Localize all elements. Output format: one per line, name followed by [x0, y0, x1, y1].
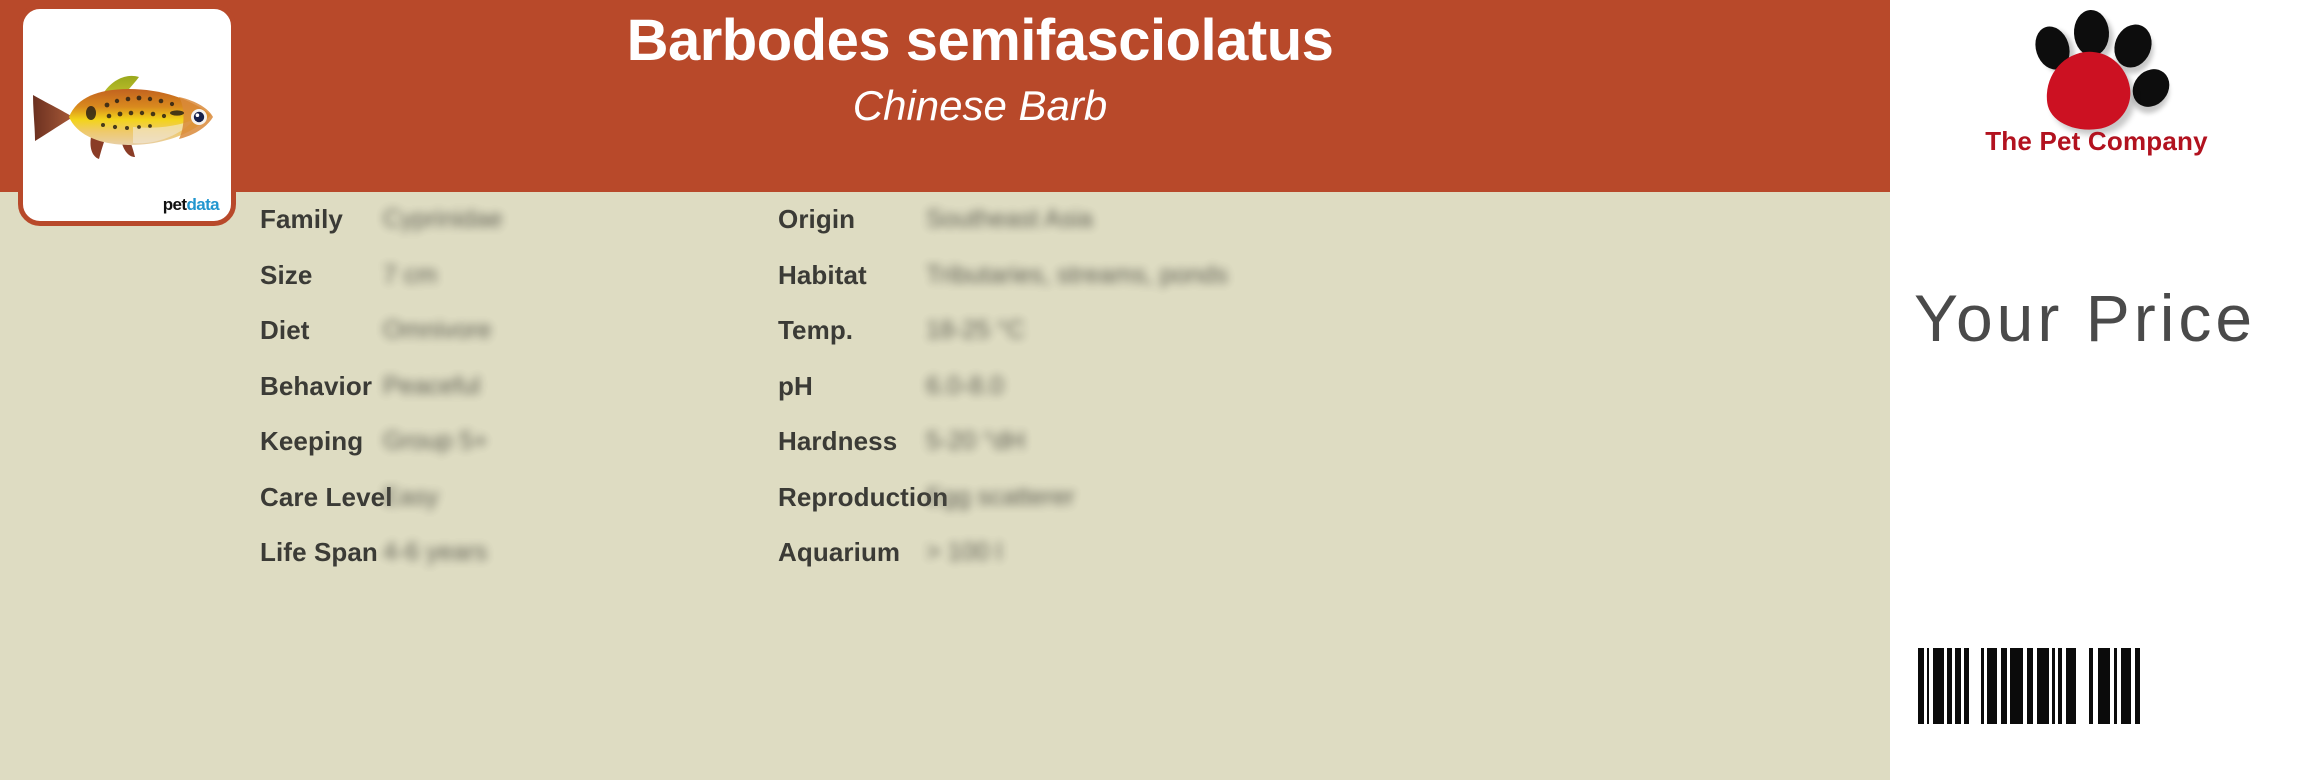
fish-photo: [29, 61, 229, 171]
spec-row: pH6.0-8.0: [778, 359, 1338, 415]
spec-label: Life Span: [260, 537, 383, 568]
species-common-name: Chinese Barb: [330, 81, 1630, 131]
spec-value: Cyprinidae: [383, 205, 503, 234]
spec-row: HabitatTributaries, streams, ponds: [778, 248, 1338, 304]
spec-label: Keeping: [260, 426, 383, 457]
spec-row: KeepingGroup 5+: [260, 414, 780, 470]
spec-row: ReproductionEgg scatterer: [778, 470, 1338, 526]
brand-logo-block: The Pet Company: [1890, 6, 2303, 176]
spec-column-left: FamilyCyprinidaeSize7 cmDietOmnivoreBeha…: [260, 192, 780, 581]
spec-value: 7 cm: [383, 261, 437, 290]
watermark-pet-text: pet: [163, 195, 187, 214]
petdata-watermark: petdata: [163, 196, 219, 213]
species-info-panel: Barbodes semifasciolatus Chinese Barb: [0, 0, 1890, 780]
spec-row: Aquarium> 100 l: [778, 525, 1338, 581]
spec-label: Aquarium: [778, 537, 926, 568]
spec-value: 18-25 °C: [926, 316, 1025, 345]
spec-value: Tributaries, streams, ponds: [926, 261, 1228, 290]
spec-value: Southeast Asia: [926, 205, 1093, 234]
spec-label: Family: [260, 204, 383, 235]
your-price-heading: Your Price: [1914, 280, 2256, 356]
spec-value: 6.0-8.0: [926, 372, 1004, 401]
barcode-bar: [2010, 648, 2023, 724]
paw-toe-icon: [2073, 9, 2110, 57]
spec-label: Origin: [778, 204, 926, 235]
spec-label: pH: [778, 371, 926, 402]
spec-label: Size: [260, 260, 383, 291]
spec-row: DietOmnivore: [260, 303, 780, 359]
spec-label: Temp.: [778, 315, 926, 346]
spec-value: > 100 l: [926, 538, 1002, 567]
spec-label: Care Level: [260, 482, 383, 513]
barcode-bar: [2135, 648, 2140, 724]
spec-label: Hardness: [778, 426, 926, 457]
species-photo-card: petdata: [18, 4, 236, 226]
spec-value: Peaceful: [383, 372, 480, 401]
spec-label: Reproduction: [778, 482, 926, 513]
watermark-data-text: data: [186, 195, 219, 214]
spec-row: Size7 cm: [260, 248, 780, 304]
product-barcode: [1918, 648, 2140, 724]
barcode-space: [2076, 648, 2089, 724]
price-panel: The Pet Company Your Price: [1890, 0, 2303, 780]
barcode-bar: [1933, 648, 1944, 724]
spec-row: Care LevelEasy: [260, 470, 780, 526]
spec-row: Temp.18-25 °C: [778, 303, 1338, 359]
spec-row: Life Span4-6 years: [260, 525, 780, 581]
barcode-bar: [1987, 648, 1997, 724]
spec-row: FamilyCyprinidae: [260, 192, 780, 248]
species-scientific-name: Barbodes semifasciolatus: [330, 8, 1630, 75]
title-block: Barbodes semifasciolatus Chinese Barb: [330, 8, 1630, 131]
paw-print-icon: [2018, 8, 2188, 128]
shelf-label-card: Barbodes semifasciolatus Chinese Barb: [0, 0, 2303, 780]
barcode-space: [1969, 648, 1981, 724]
spec-row: Hardness5-20 °dH: [778, 414, 1338, 470]
barcode-bar: [2121, 648, 2131, 724]
spec-column-right: OriginSoutheast AsiaHabitatTributaries, …: [778, 192, 1338, 581]
spec-value: 5-20 °dH: [926, 427, 1025, 456]
barcode-bar: [2037, 648, 2049, 724]
spec-label: Diet: [260, 315, 383, 346]
spec-value: Easy: [383, 483, 439, 512]
spec-value: Egg scatterer: [926, 483, 1075, 512]
spec-label: Habitat: [778, 260, 926, 291]
spec-value: Omnivore: [383, 316, 491, 345]
spec-grid: FamilyCyprinidaeSize7 cmDietOmnivoreBeha…: [0, 192, 1890, 780]
paw-toe-icon: [2125, 62, 2177, 114]
spec-row: OriginSoutheast Asia: [778, 192, 1338, 248]
brand-name: The Pet Company: [1890, 126, 2303, 157]
spec-label: Behavior: [260, 371, 383, 402]
barcode-bar: [2098, 648, 2110, 724]
spec-value: Group 5+: [383, 427, 488, 456]
barcode-bar: [2066, 648, 2076, 724]
spec-row: BehaviorPeaceful: [260, 359, 780, 415]
spec-value: 4-6 years: [383, 538, 487, 567]
